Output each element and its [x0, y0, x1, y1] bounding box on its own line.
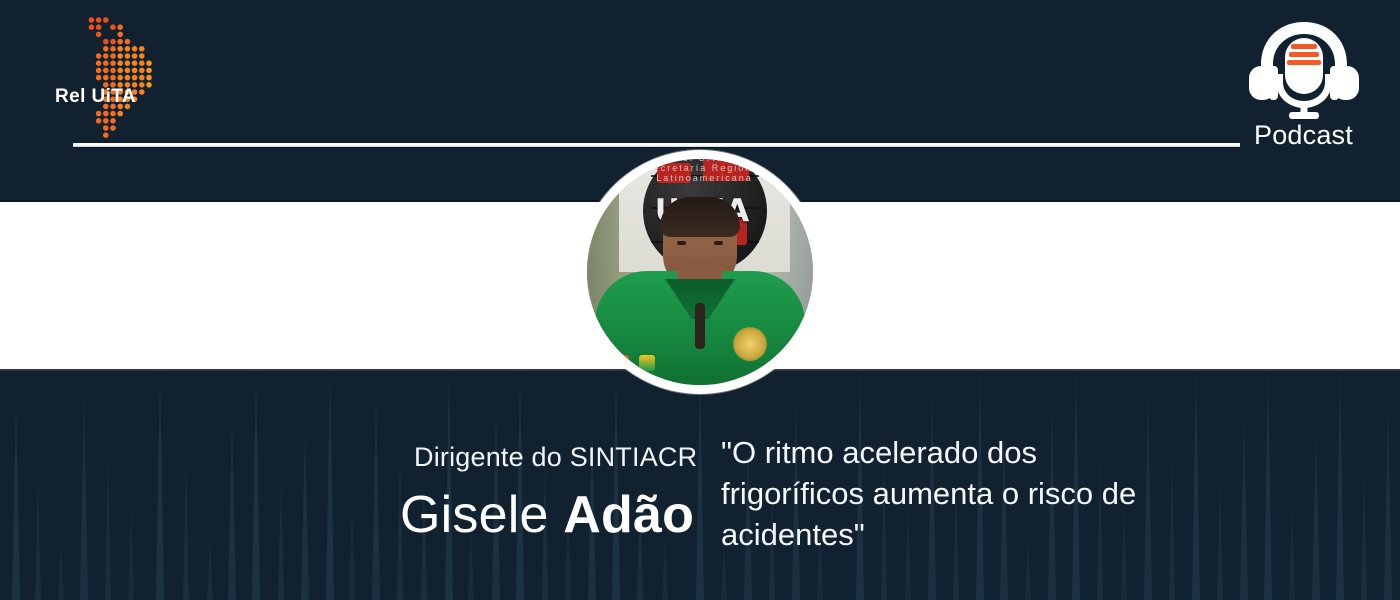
- waveform-spike: [1169, 450, 1175, 600]
- waveform-spike: [1192, 372, 1200, 600]
- waveform-spike: [1289, 504, 1295, 600]
- waveform-spike: [662, 542, 668, 600]
- waveform-spike: [252, 372, 260, 600]
- speaker-last-name: Adão: [563, 486, 694, 544]
- waveform-spike: [278, 480, 284, 600]
- speaker-name: Gisele Adão: [400, 485, 694, 545]
- shirt-badge-right: [779, 365, 797, 377]
- microphone-headphones-icon[interactable]: [1243, 16, 1365, 120]
- waveform-spike: [1361, 470, 1367, 600]
- waveform-spike: [349, 504, 355, 600]
- waveform-spike: [105, 450, 111, 600]
- latin-america-dot-map-icon: [55, 14, 205, 139]
- brand-name: Rel UiTA: [55, 86, 136, 108]
- podcast-banner: Rel UiTA Podcast: [0, 0, 1400, 600]
- waveform-spike: [1264, 372, 1272, 600]
- photo-shirt: [595, 271, 805, 385]
- brand-logo[interactable]: Rel UiTA: [55, 14, 205, 139]
- podcast-label: Podcast: [1254, 120, 1353, 151]
- waveform-spike: [80, 390, 88, 600]
- shirt-badge-left: [607, 355, 629, 369]
- speaker-first-name: Gisele: [400, 486, 563, 544]
- waveform-spike: [1336, 372, 1344, 600]
- waveform-spike: [207, 538, 213, 600]
- waveform-spike: [128, 504, 134, 600]
- banner-arc-top-text: Rel UiTA - Secretaría Regional Latinoame…: [643, 159, 767, 183]
- waveform-spike: [1217, 480, 1223, 600]
- speaker-avatar: Rel UiTA - Secretaría Regional Latinoame…: [578, 150, 822, 394]
- shirt-badge-center: [639, 355, 655, 371]
- waveform-spike: [1312, 432, 1320, 600]
- photo-hair: [660, 197, 740, 237]
- waveform-spike: [35, 480, 41, 600]
- speaker-role: Dirigente do SINTIACR: [414, 442, 697, 473]
- footer-band: [0, 371, 1400, 600]
- waveform-spike: [228, 414, 236, 600]
- waveform-spike: [12, 404, 20, 600]
- speaker-photo: Rel UiTA - Secretaría Regional Latinoame…: [587, 159, 813, 385]
- waveform-spike: [1384, 404, 1392, 600]
- waveform-spike: [58, 542, 64, 600]
- shirt-badge-crest: [733, 327, 767, 361]
- waveform-spike: [326, 372, 334, 600]
- waveform-spike: [156, 372, 164, 600]
- waveform-spike: [372, 394, 380, 600]
- waveform-spike: [1240, 414, 1248, 600]
- waveform-spike: [183, 460, 189, 600]
- waveform-spike: [696, 372, 704, 600]
- header-divider: [73, 143, 1240, 147]
- speaker-quote: "O ritmo acelerado dos frigoríficos aume…: [721, 432, 1161, 555]
- waveform-spike: [301, 432, 309, 600]
- waveform-spikes: [0, 371, 1400, 600]
